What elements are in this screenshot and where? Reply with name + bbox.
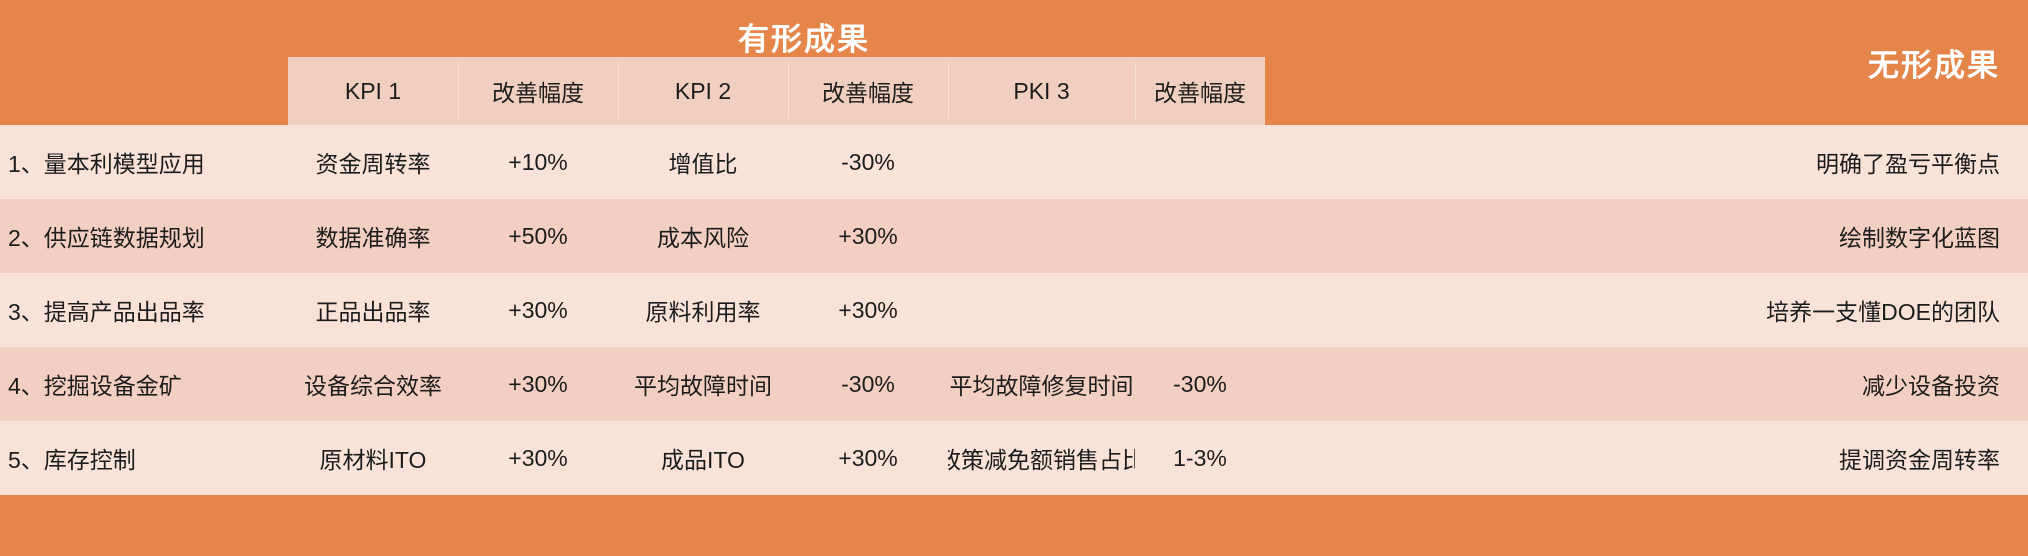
pki3-value: 政策减免额销售占比 — [948, 441, 1135, 475]
improvement1-value: +10% — [458, 149, 618, 176]
improvement3-value: 1-3% — [1135, 445, 1265, 472]
table-row: 5、库存控制原材料ITO+30%成品ITO+30%政策减免额销售占比1-3%提调… — [0, 421, 2028, 495]
table-body: 1、量本利模型应用资金周转率+10%增值比-30%明确了盈亏平衡点2、供应链数据… — [0, 125, 2028, 495]
intangible-result-value: 减少设备投资 — [1265, 367, 2028, 401]
results-summary-board: 有形成果 无形成果 KPI 1 改善幅度 KPI 2 改善幅度 PKI 3 改善… — [0, 0, 2028, 556]
project-label: 3、提高产品出品率 — [0, 293, 288, 327]
improvement2-value: +30% — [788, 223, 948, 250]
table-row: 4、挖掘设备金矿设备综合效率+30%平均故障时间-30%平均故障修复时间-30%… — [0, 347, 2028, 421]
kpi1-value: 数据准确率 — [288, 219, 458, 253]
column-header-improvement-2: 改善幅度 — [788, 57, 948, 125]
kpi1-value: 原材料ITO — [288, 441, 458, 475]
improvement1-value: +30% — [458, 297, 618, 324]
kpi2-value: 原料利用率 — [618, 293, 788, 327]
intangible-result-value: 明确了盈亏平衡点 — [1265, 145, 2028, 179]
improvement2-value: +30% — [788, 297, 948, 324]
column-header-kpi2: KPI 2 — [618, 57, 788, 125]
kpi1-value: 资金周转率 — [288, 145, 458, 179]
intangible-result-value: 培养一支懂DOE的团队 — [1265, 293, 2028, 327]
pki3-value: 平均故障修复时间 — [948, 367, 1135, 401]
improvement1-value: +50% — [458, 223, 618, 250]
kpi2-value: 成本风险 — [618, 219, 788, 253]
intangible-result-value: 绘制数字化蓝图 — [1265, 219, 2028, 253]
kpi1-value: 设备综合效率 — [288, 367, 458, 401]
improvement1-value: +30% — [458, 445, 618, 472]
column-header-pki3: PKI 3 — [948, 57, 1135, 125]
intangible-result-value: 提调资金周转率 — [1265, 441, 2028, 475]
intangible-results-title: 无形成果 — [1868, 40, 2000, 85]
column-header-improvement-1: 改善幅度 — [458, 57, 618, 125]
tangible-results-title: 有形成果 — [738, 14, 870, 59]
improvement2-value: -30% — [788, 371, 948, 398]
table-row: 3、提高产品出品率正品出品率+30%原料利用率+30%培养一支懂DOE的团队 — [0, 273, 2028, 347]
project-label: 5、库存控制 — [0, 441, 288, 475]
kpi2-value: 平均故障时间 — [618, 367, 788, 401]
project-label: 2、供应链数据规划 — [0, 219, 288, 253]
improvement1-value: +30% — [458, 371, 618, 398]
column-header-kpi1: KPI 1 — [288, 57, 458, 125]
project-label: 4、挖掘设备金矿 — [0, 367, 288, 401]
kpi2-value: 增值比 — [618, 145, 788, 179]
kpi2-value: 成品ITO — [618, 441, 788, 475]
improvement2-value: -30% — [788, 149, 948, 176]
table-column-header-row: KPI 1 改善幅度 KPI 2 改善幅度 PKI 3 改善幅度 — [288, 57, 1265, 125]
improvement3-value: -30% — [1135, 371, 1265, 398]
table-row: 2、供应链数据规划数据准确率+50%成本风险+30%绘制数字化蓝图 — [0, 199, 2028, 273]
kpi1-value: 正品出品率 — [288, 293, 458, 327]
table-row: 1、量本利模型应用资金周转率+10%增值比-30%明确了盈亏平衡点 — [0, 125, 2028, 199]
improvement2-value: +30% — [788, 445, 948, 472]
project-label: 1、量本利模型应用 — [0, 145, 288, 179]
column-header-improvement-3: 改善幅度 — [1135, 57, 1265, 125]
